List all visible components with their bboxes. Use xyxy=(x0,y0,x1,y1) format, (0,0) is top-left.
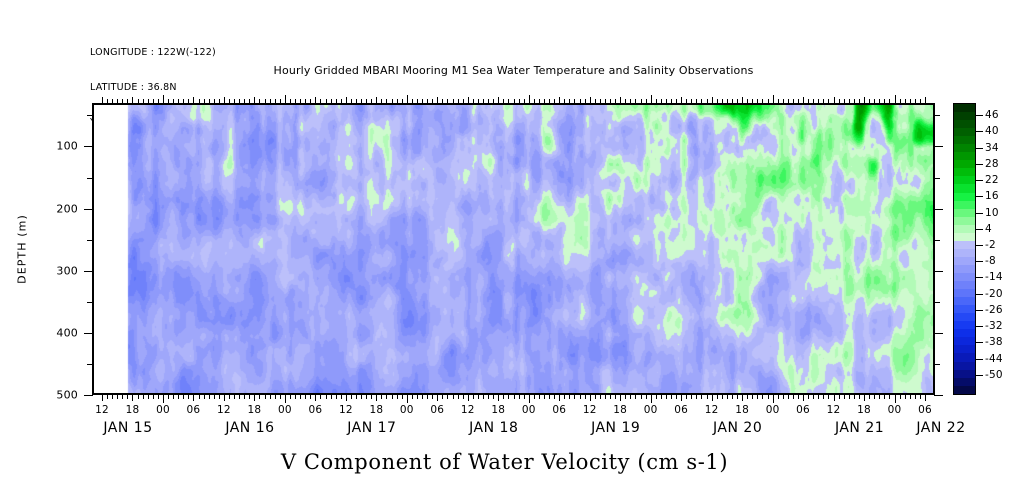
longitude-text: LONGITUDE : 122W(-122) xyxy=(90,47,216,59)
y-axis-tick-right xyxy=(934,209,943,210)
y-axis-label-value: 500 xyxy=(38,389,78,402)
x-axis-day-label: JAN 22 xyxy=(916,420,965,436)
x-axis-hour-label: 06 xyxy=(187,404,201,416)
y-axis-tick-right xyxy=(934,333,943,334)
x-axis-tick xyxy=(895,394,896,403)
y-axis-label-value: 300 xyxy=(38,264,78,277)
colorbar-tick-label: -8 xyxy=(985,255,996,267)
colorbar-cell xyxy=(954,257,975,265)
x-axis-tick xyxy=(163,394,164,403)
colorbar-tick xyxy=(976,342,983,343)
x-axis-tick xyxy=(468,394,469,401)
figure-root: LONGITUDE : 122W(-122) LATITUDE : 36.8N … xyxy=(0,0,1009,504)
colorbar-tick-label: -44 xyxy=(985,353,1003,365)
colorbar xyxy=(953,103,976,395)
colorbar-cell xyxy=(954,209,975,217)
colorbar-tick-label: -2 xyxy=(985,239,996,251)
colorbar-ticks: 464034282216104-2-8-14-20-26-32-38-44-50 xyxy=(976,103,1009,395)
colorbar-cell xyxy=(954,289,975,297)
colorbar-tick xyxy=(976,261,983,262)
colorbar-tick xyxy=(976,294,983,295)
colorbar-cell xyxy=(954,305,975,313)
x-axis-tick xyxy=(529,394,530,403)
colorbar-cell xyxy=(954,233,975,241)
chart-title: Hourly Gridded MBARI Mooring M1 Sea Wate… xyxy=(92,64,935,77)
x-axis-hour-label: 12 xyxy=(95,404,109,416)
colorbar-cell xyxy=(954,249,975,257)
x-axis-hour-label: 06 xyxy=(430,404,444,416)
colorbar-cell xyxy=(954,201,975,209)
x-axis-hour-label: 00 xyxy=(400,404,414,416)
colorbar-cell xyxy=(954,225,975,233)
x-axis-tick xyxy=(193,394,194,401)
x-axis-day-label: JAN 15 xyxy=(103,420,152,436)
velocity-heatmap xyxy=(94,105,933,393)
x-axis-hour-label: 06 xyxy=(552,404,566,416)
x-axis-tick xyxy=(285,394,286,403)
x-axis-hour-label: 18 xyxy=(735,404,749,416)
x-axis-tick xyxy=(102,394,103,401)
x-axis-tick xyxy=(376,394,377,401)
colorbar-cell xyxy=(954,337,975,345)
x-axis-tick xyxy=(132,394,133,401)
colorbar-tick-label: 28 xyxy=(985,158,999,170)
x-axis-hour-label: 00 xyxy=(156,404,170,416)
x-axis-tick xyxy=(315,394,316,401)
colorbar-tick-label: -26 xyxy=(985,304,1003,316)
colorbar-cell xyxy=(954,112,975,120)
colorbar-cell xyxy=(954,184,975,192)
colorbar-tick xyxy=(976,180,983,181)
colorbar-tick-label: -14 xyxy=(985,271,1003,283)
x-axis-day-label: JAN 18 xyxy=(469,420,518,436)
colorbar-tick xyxy=(976,245,983,246)
colorbar-tick-label: -50 xyxy=(985,369,1003,381)
x-axis-day-label: JAN 16 xyxy=(225,420,274,436)
colorbar-tick xyxy=(976,148,983,149)
x-axis-tick xyxy=(346,394,347,401)
colorbar-tick xyxy=(976,229,983,230)
x-axis-hour-label: 18 xyxy=(248,404,262,416)
x-axis-hour-label: 00 xyxy=(522,404,536,416)
x-axis-day-label: JAN 19 xyxy=(591,420,640,436)
colorbar-tick-label: 34 xyxy=(985,142,999,154)
x-axis-tick xyxy=(651,394,652,403)
x-axis-hour-label: 00 xyxy=(888,404,902,416)
colorbar-tick xyxy=(976,359,983,360)
x-axis-day-label: JAN 21 xyxy=(835,420,884,436)
x-axis-tick xyxy=(224,394,225,401)
colorbar-cell xyxy=(954,321,975,329)
x-axis-tick xyxy=(254,394,255,401)
x-axis-tick xyxy=(773,394,774,403)
x-axis-tick xyxy=(803,394,804,401)
x-axis-tick xyxy=(681,394,682,401)
colorbar-tick-label: -38 xyxy=(985,336,1003,348)
figure-caption: V Component of Water Velocity (cm s-1) xyxy=(0,450,1009,474)
x-axis-hour-label: 12 xyxy=(705,404,719,416)
x-axis-tick xyxy=(712,394,713,401)
x-axis-hour-label: 00 xyxy=(278,404,292,416)
x-axis-tick xyxy=(498,394,499,401)
colorbar-cell xyxy=(954,160,975,168)
colorbar-cell xyxy=(954,265,975,273)
x-axis-hour-label: 00 xyxy=(644,404,658,416)
x-axis-tick xyxy=(925,394,926,401)
colorbar-cell xyxy=(954,329,975,337)
colorbar-tick xyxy=(976,131,983,132)
x-axis-hour-label: 18 xyxy=(857,404,871,416)
y-axis-tick xyxy=(84,395,93,396)
x-axis-hour-label: 18 xyxy=(613,404,627,416)
colorbar-tick xyxy=(976,115,983,116)
colorbar-cell xyxy=(954,378,975,386)
x-axis-hour-label: 12 xyxy=(827,404,841,416)
x-axis-tick xyxy=(834,394,835,401)
colorbar-cell xyxy=(954,370,975,378)
colorbar-tick xyxy=(976,277,983,278)
y-axis-tick-right xyxy=(934,271,943,272)
x-axis-hour-label: 18 xyxy=(491,404,505,416)
colorbar-cell xyxy=(954,136,975,144)
colorbar-tick xyxy=(976,326,983,327)
colorbar-cell xyxy=(954,168,975,176)
x-axis-tick xyxy=(864,394,865,401)
x-axis-hour-label: 12 xyxy=(461,404,475,416)
colorbar-cell xyxy=(954,193,975,201)
colorbar-cell xyxy=(954,362,975,370)
colorbar-cell xyxy=(954,273,975,281)
colorbar-tick xyxy=(976,310,983,311)
x-axis-day-label: JAN 20 xyxy=(713,420,762,436)
x-axis-tick xyxy=(407,394,408,403)
colorbar-cell xyxy=(954,176,975,184)
colorbar-tick-label: 40 xyxy=(985,125,999,137)
colorbar-cell xyxy=(954,313,975,321)
colorbar-tick-label: -32 xyxy=(985,320,1003,332)
colorbar-tick-label: 22 xyxy=(985,174,999,186)
colorbar-tick xyxy=(976,196,983,197)
colorbar-tick-label: 4 xyxy=(985,223,992,235)
colorbar-cell xyxy=(954,241,975,249)
colorbar-cell xyxy=(954,297,975,305)
colorbar-cell xyxy=(954,152,975,160)
x-axis-tick xyxy=(620,394,621,401)
plot-area xyxy=(92,103,935,395)
y-axis-tick-right xyxy=(934,395,943,396)
x-axis-tick xyxy=(559,394,560,401)
colorbar-cell xyxy=(954,353,975,361)
x-axis-tick xyxy=(437,394,438,401)
x-axis-tick xyxy=(742,394,743,401)
colorbar-tick xyxy=(976,164,983,165)
y-axis-label-value: 200 xyxy=(38,202,78,215)
x-axis-hour-label: 06 xyxy=(308,404,322,416)
x-axis-hour-label: 06 xyxy=(674,404,688,416)
colorbar-cell xyxy=(954,104,975,112)
colorbar-tick-label: 10 xyxy=(985,207,999,219)
colorbar-tick-label: 46 xyxy=(985,109,999,121)
y-axis-tick-right xyxy=(934,146,943,147)
colorbar-cell xyxy=(954,386,975,394)
colorbar-tick-label: 16 xyxy=(985,190,999,202)
x-axis-hour-label: 06 xyxy=(796,404,810,416)
latitude-text: LATITUDE : 36.8N xyxy=(90,82,216,94)
x-axis-hour-label: 06 xyxy=(918,404,932,416)
y-axis-label-value: 100 xyxy=(38,140,78,153)
colorbar-cell xyxy=(954,217,975,225)
x-axis-hour-label: 00 xyxy=(766,404,780,416)
colorbar-cell xyxy=(954,281,975,289)
x-axis-hour-label: 12 xyxy=(583,404,597,416)
x-axis-tick xyxy=(590,394,591,401)
colorbar-cell xyxy=(954,128,975,136)
x-axis-hour-label: 18 xyxy=(369,404,383,416)
colorbar-tick xyxy=(976,213,983,214)
colorbar-cell xyxy=(954,120,975,128)
x-axis-hour-label: 18 xyxy=(126,404,140,416)
colorbar-tick-label: -20 xyxy=(985,288,1003,300)
x-axis-day-label: JAN 17 xyxy=(347,420,396,436)
colorbar-cell xyxy=(954,345,975,353)
y-axis-label-value: 400 xyxy=(38,326,78,339)
y-axis-label: DEPTH (m) xyxy=(16,214,29,284)
x-axis-hour-label: 12 xyxy=(339,404,353,416)
colorbar-cell xyxy=(954,144,975,152)
colorbar-tick xyxy=(976,375,983,376)
x-axis-hour-label: 12 xyxy=(217,404,231,416)
